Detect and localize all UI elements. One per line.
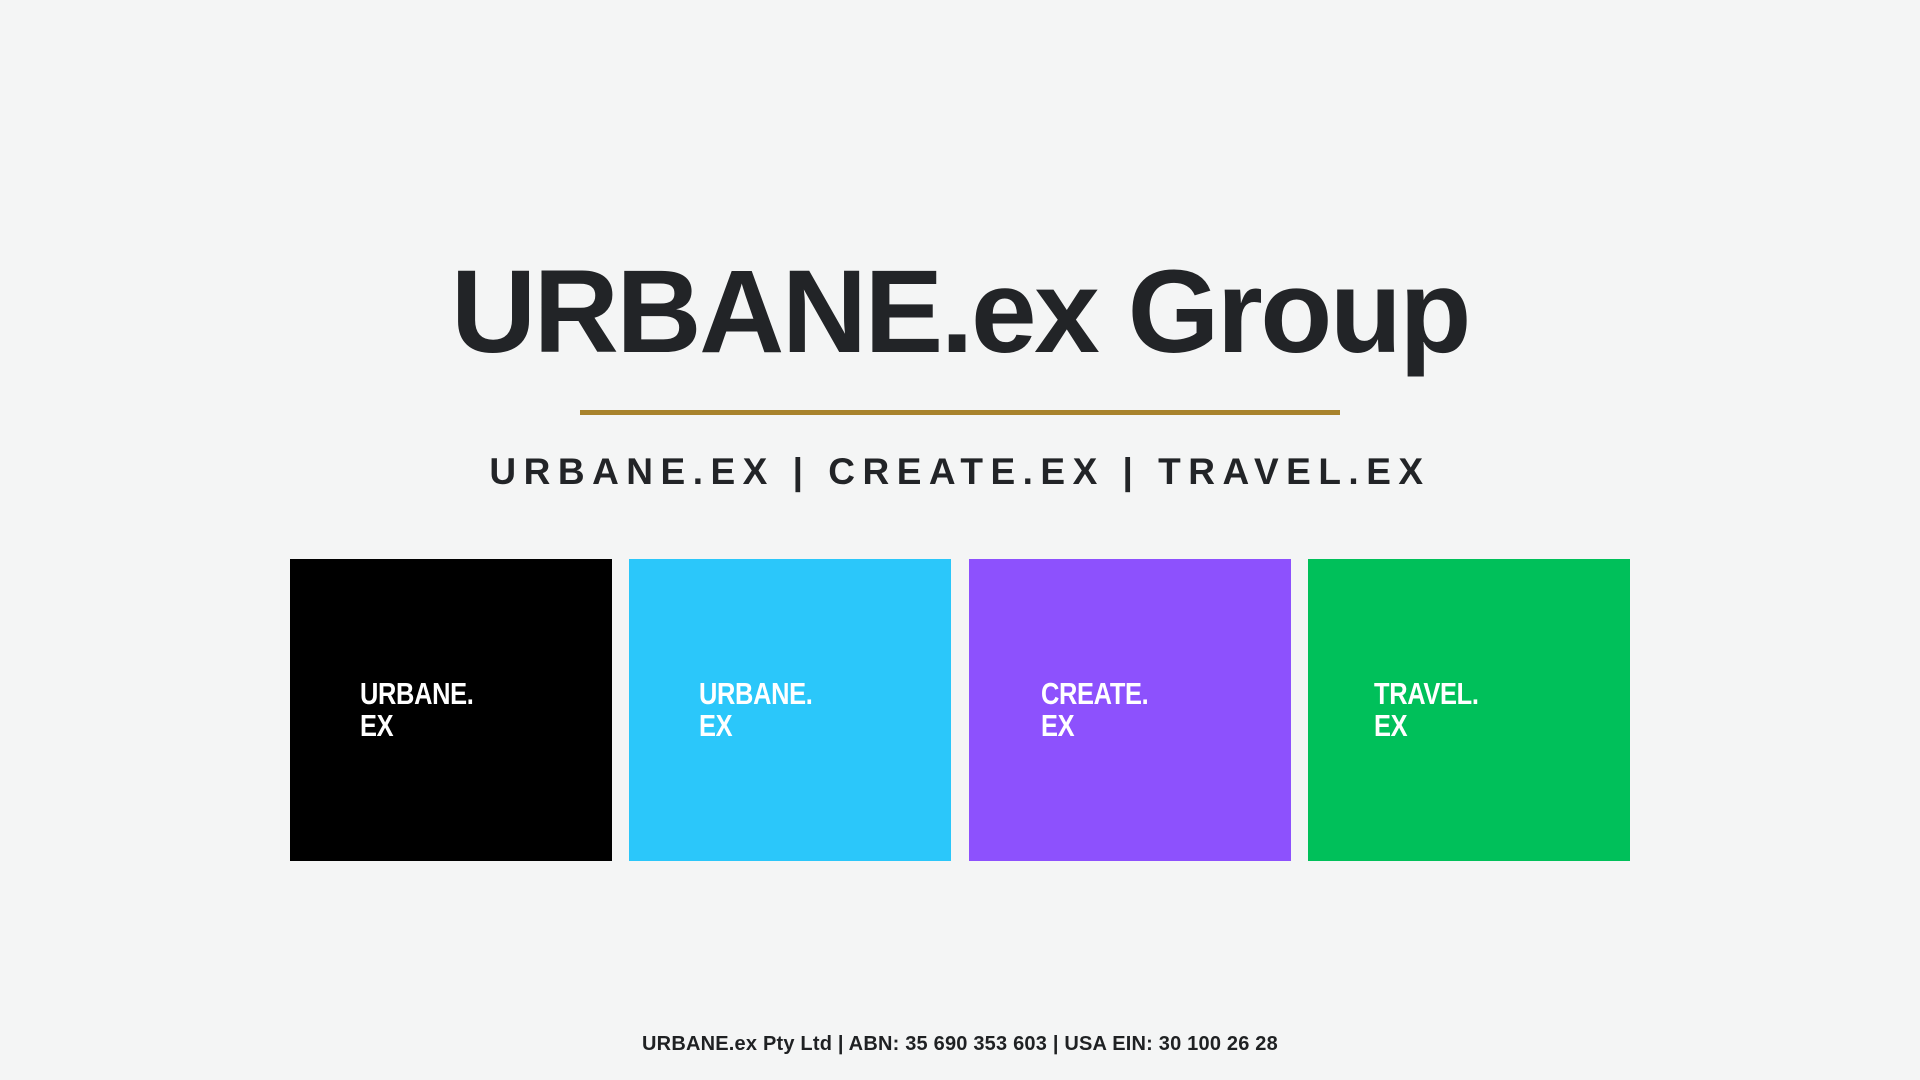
- brand-card-line2: EX: [699, 710, 894, 743]
- brand-card-line1: CREATE.: [1041, 678, 1235, 711]
- brand-card-line2: EX: [360, 710, 555, 743]
- brand-list-subtitle: URBANE.EX | CREATE.EX | TRAVEL.EX: [0, 451, 1920, 493]
- brand-card-line1: URBANE.: [360, 678, 555, 711]
- gold-divider: [580, 410, 1340, 415]
- brand-card-line2: EX: [1041, 710, 1235, 743]
- page-title: URBANE.ex Group: [0, 252, 1920, 372]
- brand-card-line2: EX: [1374, 710, 1572, 743]
- subtitle-block: URBANE.EX | CREATE.EX | TRAVEL.EX: [0, 451, 1920, 493]
- brand-card-urbane-ex-cyan[interactable]: URBANE. EX: [629, 559, 951, 861]
- brand-card-line1: TRAVEL.: [1374, 678, 1572, 711]
- brand-card-travel-ex-green[interactable]: TRAVEL. EX: [1308, 559, 1630, 861]
- brand-cards-row: URBANE. EX URBANE. EX CREATE. EX TRAVEL.…: [290, 559, 1630, 861]
- brand-card-urbane-ex-black[interactable]: URBANE. EX: [290, 559, 612, 861]
- legal-entity-text: URBANE.ex Pty Ltd | ABN: 35 690 353 603 …: [0, 1033, 1920, 1056]
- brand-card-line1: URBANE.: [699, 678, 894, 711]
- brand-card-create-ex-purple[interactable]: CREATE. EX: [969, 559, 1291, 861]
- brand-slide: URBANE.ex Group URBANE.EX | CREATE.EX | …: [0, 0, 1920, 1080]
- divider-wrap: [0, 410, 1920, 415]
- footer: URBANE.ex Pty Ltd | ABN: 35 690 353 603 …: [0, 1033, 1920, 1056]
- title-block: URBANE.ex Group: [0, 252, 1920, 372]
